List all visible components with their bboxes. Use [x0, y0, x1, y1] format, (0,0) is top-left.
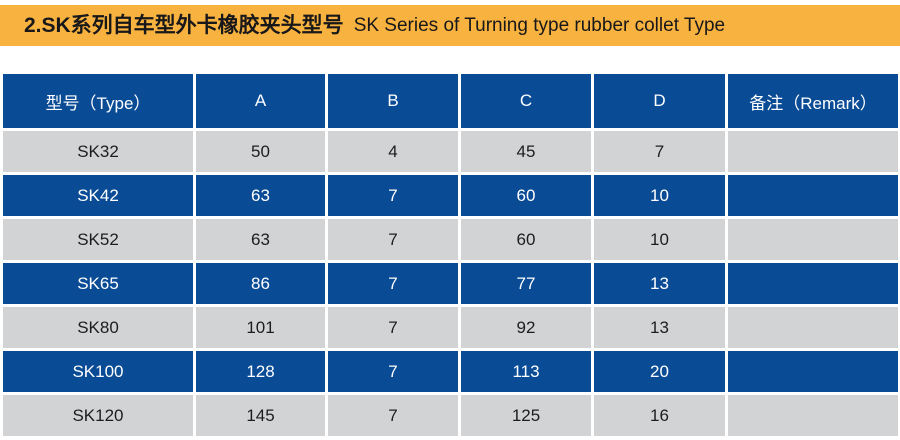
- cell-type: SK32: [3, 131, 193, 172]
- cell-b: 7: [328, 351, 458, 392]
- cell-a: 145: [196, 395, 325, 436]
- column-header-a: A: [196, 74, 325, 128]
- cell-d: 10: [594, 175, 725, 216]
- table-row: SK100 128 7 113 20: [3, 351, 898, 392]
- cell-d: 13: [594, 263, 725, 304]
- cell-b: 7: [328, 395, 458, 436]
- cell-d: 10: [594, 219, 725, 260]
- spec-table: 型号（Type） A B C D 备注（Remark） SK32 50 4 45…: [0, 71, 900, 439]
- cell-remark: [728, 395, 898, 436]
- cell-remark: [728, 175, 898, 216]
- cell-c: 45: [461, 131, 591, 172]
- cell-a: 128: [196, 351, 325, 392]
- cell-a: 50: [196, 131, 325, 172]
- cell-a: 63: [196, 175, 325, 216]
- cell-type: SK80: [3, 307, 193, 348]
- cell-b: 4: [328, 131, 458, 172]
- cell-c: 77: [461, 263, 591, 304]
- table-header: 型号（Type） A B C D 备注（Remark）: [3, 74, 898, 128]
- cell-c: 60: [461, 219, 591, 260]
- table-body: SK32 50 4 45 7 SK42 63 7 60 10 SK52 63 7…: [3, 131, 898, 436]
- table-row: SK120 145 7 125 16: [3, 395, 898, 436]
- cell-c: 113: [461, 351, 591, 392]
- cell-remark: [728, 351, 898, 392]
- cell-d: 7: [594, 131, 725, 172]
- cell-b: 7: [328, 175, 458, 216]
- cell-a: 101: [196, 307, 325, 348]
- column-header-c: C: [461, 74, 591, 128]
- table-row: SK65 86 7 77 13: [3, 263, 898, 304]
- cell-b: 7: [328, 219, 458, 260]
- section-title-english: SK Series of Turning type rubber collet …: [354, 16, 725, 35]
- cell-a: 63: [196, 219, 325, 260]
- column-header-b: B: [328, 74, 458, 128]
- cell-remark: [728, 263, 898, 304]
- table-row: SK52 63 7 60 10: [3, 219, 898, 260]
- cell-type: SK65: [3, 263, 193, 304]
- table-header-row: 型号（Type） A B C D 备注（Remark）: [3, 74, 898, 128]
- cell-c: 92: [461, 307, 591, 348]
- cell-d: 20: [594, 351, 725, 392]
- table-row: SK42 63 7 60 10: [3, 175, 898, 216]
- cell-type: SK52: [3, 219, 193, 260]
- cell-d: 16: [594, 395, 725, 436]
- cell-c: 125: [461, 395, 591, 436]
- cell-type: SK42: [3, 175, 193, 216]
- section-title-chinese: 2.SK系列自车型外卡橡胶夹头型号: [24, 15, 344, 36]
- section-title-banner: 2.SK系列自车型外卡橡胶夹头型号 SK Series of Turning t…: [0, 5, 900, 46]
- cell-b: 7: [328, 263, 458, 304]
- cell-d: 13: [594, 307, 725, 348]
- cell-type: SK120: [3, 395, 193, 436]
- cell-c: 60: [461, 175, 591, 216]
- table-row: SK80 101 7 92 13: [3, 307, 898, 348]
- cell-remark: [728, 219, 898, 260]
- cell-remark: [728, 131, 898, 172]
- table-row: SK32 50 4 45 7: [3, 131, 898, 172]
- cell-type: SK100: [3, 351, 193, 392]
- cell-a: 86: [196, 263, 325, 304]
- column-header-d: D: [594, 74, 725, 128]
- cell-b: 7: [328, 307, 458, 348]
- cell-remark: [728, 307, 898, 348]
- column-header-remark: 备注（Remark）: [728, 74, 898, 128]
- column-header-type: 型号（Type）: [3, 74, 193, 128]
